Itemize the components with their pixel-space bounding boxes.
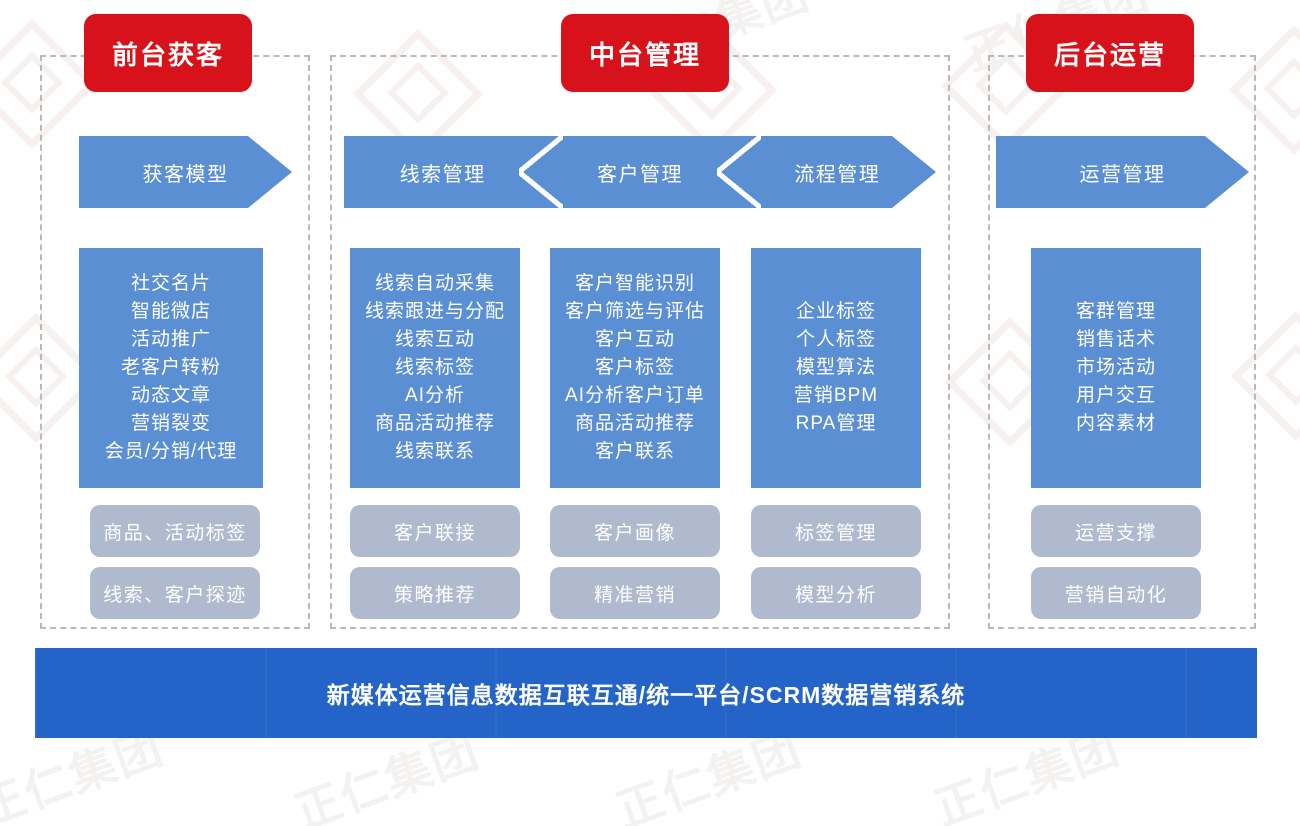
capability-marketing-automation[interactable]: 营销自动化 <box>1031 567 1201 619</box>
capability-tag-management[interactable]: 标签管理 <box>751 505 921 557</box>
feature-item: 线索跟进与分配 <box>365 298 505 326</box>
capability-precision-marketing[interactable]: 精准营销 <box>550 567 720 619</box>
capability-lead-customer-tracking[interactable]: 线索、客户探迹 <box>90 567 260 619</box>
feature-item: 智能微店 <box>131 298 211 326</box>
feature-item: 线索联系 <box>395 438 475 466</box>
feature-item: 活动推广 <box>131 326 211 354</box>
capability-label: 策略推荐 <box>394 580 476 607</box>
stage-label: 流程管理 <box>794 158 880 187</box>
stage-label: 客户管理 <box>597 158 683 187</box>
feature-item: 用户交互 <box>1076 382 1156 410</box>
stage-label: 获客模型 <box>143 158 229 187</box>
feature-item: 会员/分销/代理 <box>105 438 238 466</box>
capability-product-activity-tags[interactable]: 商品、活动标签 <box>90 505 260 557</box>
capability-label: 运营支撑 <box>1075 518 1157 545</box>
feature-item: 个人标签 <box>796 326 876 354</box>
pill-front-office-label: 前台获客 <box>112 35 224 72</box>
feature-item: 客群管理 <box>1076 298 1156 326</box>
capability-label: 商品、活动标签 <box>103 518 247 545</box>
feature-item: 销售话术 <box>1076 326 1156 354</box>
capability-customer-connection[interactable]: 客户联接 <box>350 505 520 557</box>
capability-customer-profile[interactable]: 客户画像 <box>550 505 720 557</box>
featurebox-lead-management: 线索自动采集 线索跟进与分配 线索互动 线索标签 AI分析 商品活动推荐 线索联… <box>350 248 520 488</box>
featurebox-acquisition-model: 社交名片 智能微店 活动推广 老客户转粉 动态文章 营销裂变 会员/分销/代理 <box>79 248 263 488</box>
feature-item: 商品活动推荐 <box>575 410 695 438</box>
feature-item: AI分析 <box>405 382 465 410</box>
featurebox-process-management: 企业标签 个人标签 模型算法 营销BPM RPA管理 <box>751 248 921 488</box>
pill-back-office-label: 后台运营 <box>1054 35 1166 72</box>
stage-acquisition-model[interactable]: 获客模型 <box>79 136 292 208</box>
feature-item: 客户筛选与评估 <box>565 298 705 326</box>
feature-item: RPA管理 <box>796 410 877 438</box>
feature-item: AI分析客户订单 <box>565 382 705 410</box>
feature-item: 模型算法 <box>796 354 876 382</box>
capability-label: 客户画像 <box>594 518 676 545</box>
feature-item: 客户互动 <box>595 326 675 354</box>
feature-item: 市场活动 <box>1076 354 1156 382</box>
bottom-banner-label: 新媒体运营信息数据互联互通/统一平台/SCRM数据营销系统 <box>327 676 966 710</box>
feature-item: 线索标签 <box>395 354 475 382</box>
feature-item: 动态文章 <box>131 382 211 410</box>
feature-item: 客户智能识别 <box>575 270 695 298</box>
feature-item: 线索互动 <box>395 326 475 354</box>
feature-item: 线索自动采集 <box>375 270 495 298</box>
feature-item: 内容素材 <box>1076 410 1156 438</box>
stage-operations-management[interactable]: 运营管理 <box>996 136 1249 208</box>
capability-label: 客户联接 <box>394 518 476 545</box>
featurebox-operations-management: 客群管理 销售话术 市场活动 用户交互 内容素材 <box>1031 248 1201 488</box>
capability-label: 标签管理 <box>795 518 877 545</box>
capability-label: 营销自动化 <box>1065 580 1168 607</box>
feature-item: 营销BPM <box>794 382 878 410</box>
capability-operations-support[interactable]: 运营支撑 <box>1031 505 1201 557</box>
feature-item: 营销裂变 <box>131 410 211 438</box>
stage-lead-management[interactable]: 线索管理 <box>344 136 541 208</box>
capability-label: 模型分析 <box>795 580 877 607</box>
stage-band-front-office: 获客模型 <box>79 136 292 208</box>
feature-item: 企业标签 <box>796 298 876 326</box>
feature-item: 老客户转粉 <box>121 354 221 382</box>
capability-strategy-recommendation[interactable]: 策略推荐 <box>350 567 520 619</box>
pill-middle-office[interactable]: 中台管理 <box>561 14 729 92</box>
feature-item: 客户标签 <box>595 354 675 382</box>
pill-back-office[interactable]: 后台运营 <box>1026 14 1194 92</box>
pill-middle-office-label: 中台管理 <box>589 35 701 72</box>
diagram-canvas: 正仁集团 正仁集团 正仁集团 正仁集团 正仁集团 正仁集团 前台获客 获客模型 … <box>0 0 1300 826</box>
stage-label: 线索管理 <box>400 158 486 187</box>
bottom-banner: 新媒体运营信息数据互联互通/统一平台/SCRM数据营销系统 <box>35 648 1257 738</box>
pill-front-office[interactable]: 前台获客 <box>84 14 252 92</box>
stage-label: 运营管理 <box>1080 158 1166 187</box>
capability-label: 精准营销 <box>594 580 676 607</box>
featurebox-customer-management: 客户智能识别 客户筛选与评估 客户互动 客户标签 AI分析客户订单 商品活动推荐… <box>550 248 720 488</box>
stage-customer-management[interactable]: 客户管理 <box>541 136 738 208</box>
feature-item: 社交名片 <box>131 270 211 298</box>
capability-model-analysis[interactable]: 模型分析 <box>751 567 921 619</box>
feature-item: 客户联系 <box>595 438 675 466</box>
feature-item: 商品活动推荐 <box>375 410 495 438</box>
capability-label: 线索、客户探迹 <box>103 580 247 607</box>
stage-band-back-office: 运营管理 <box>996 136 1249 208</box>
stage-band-middle-office: 线索管理 客户管理 流程管理 <box>344 136 936 208</box>
